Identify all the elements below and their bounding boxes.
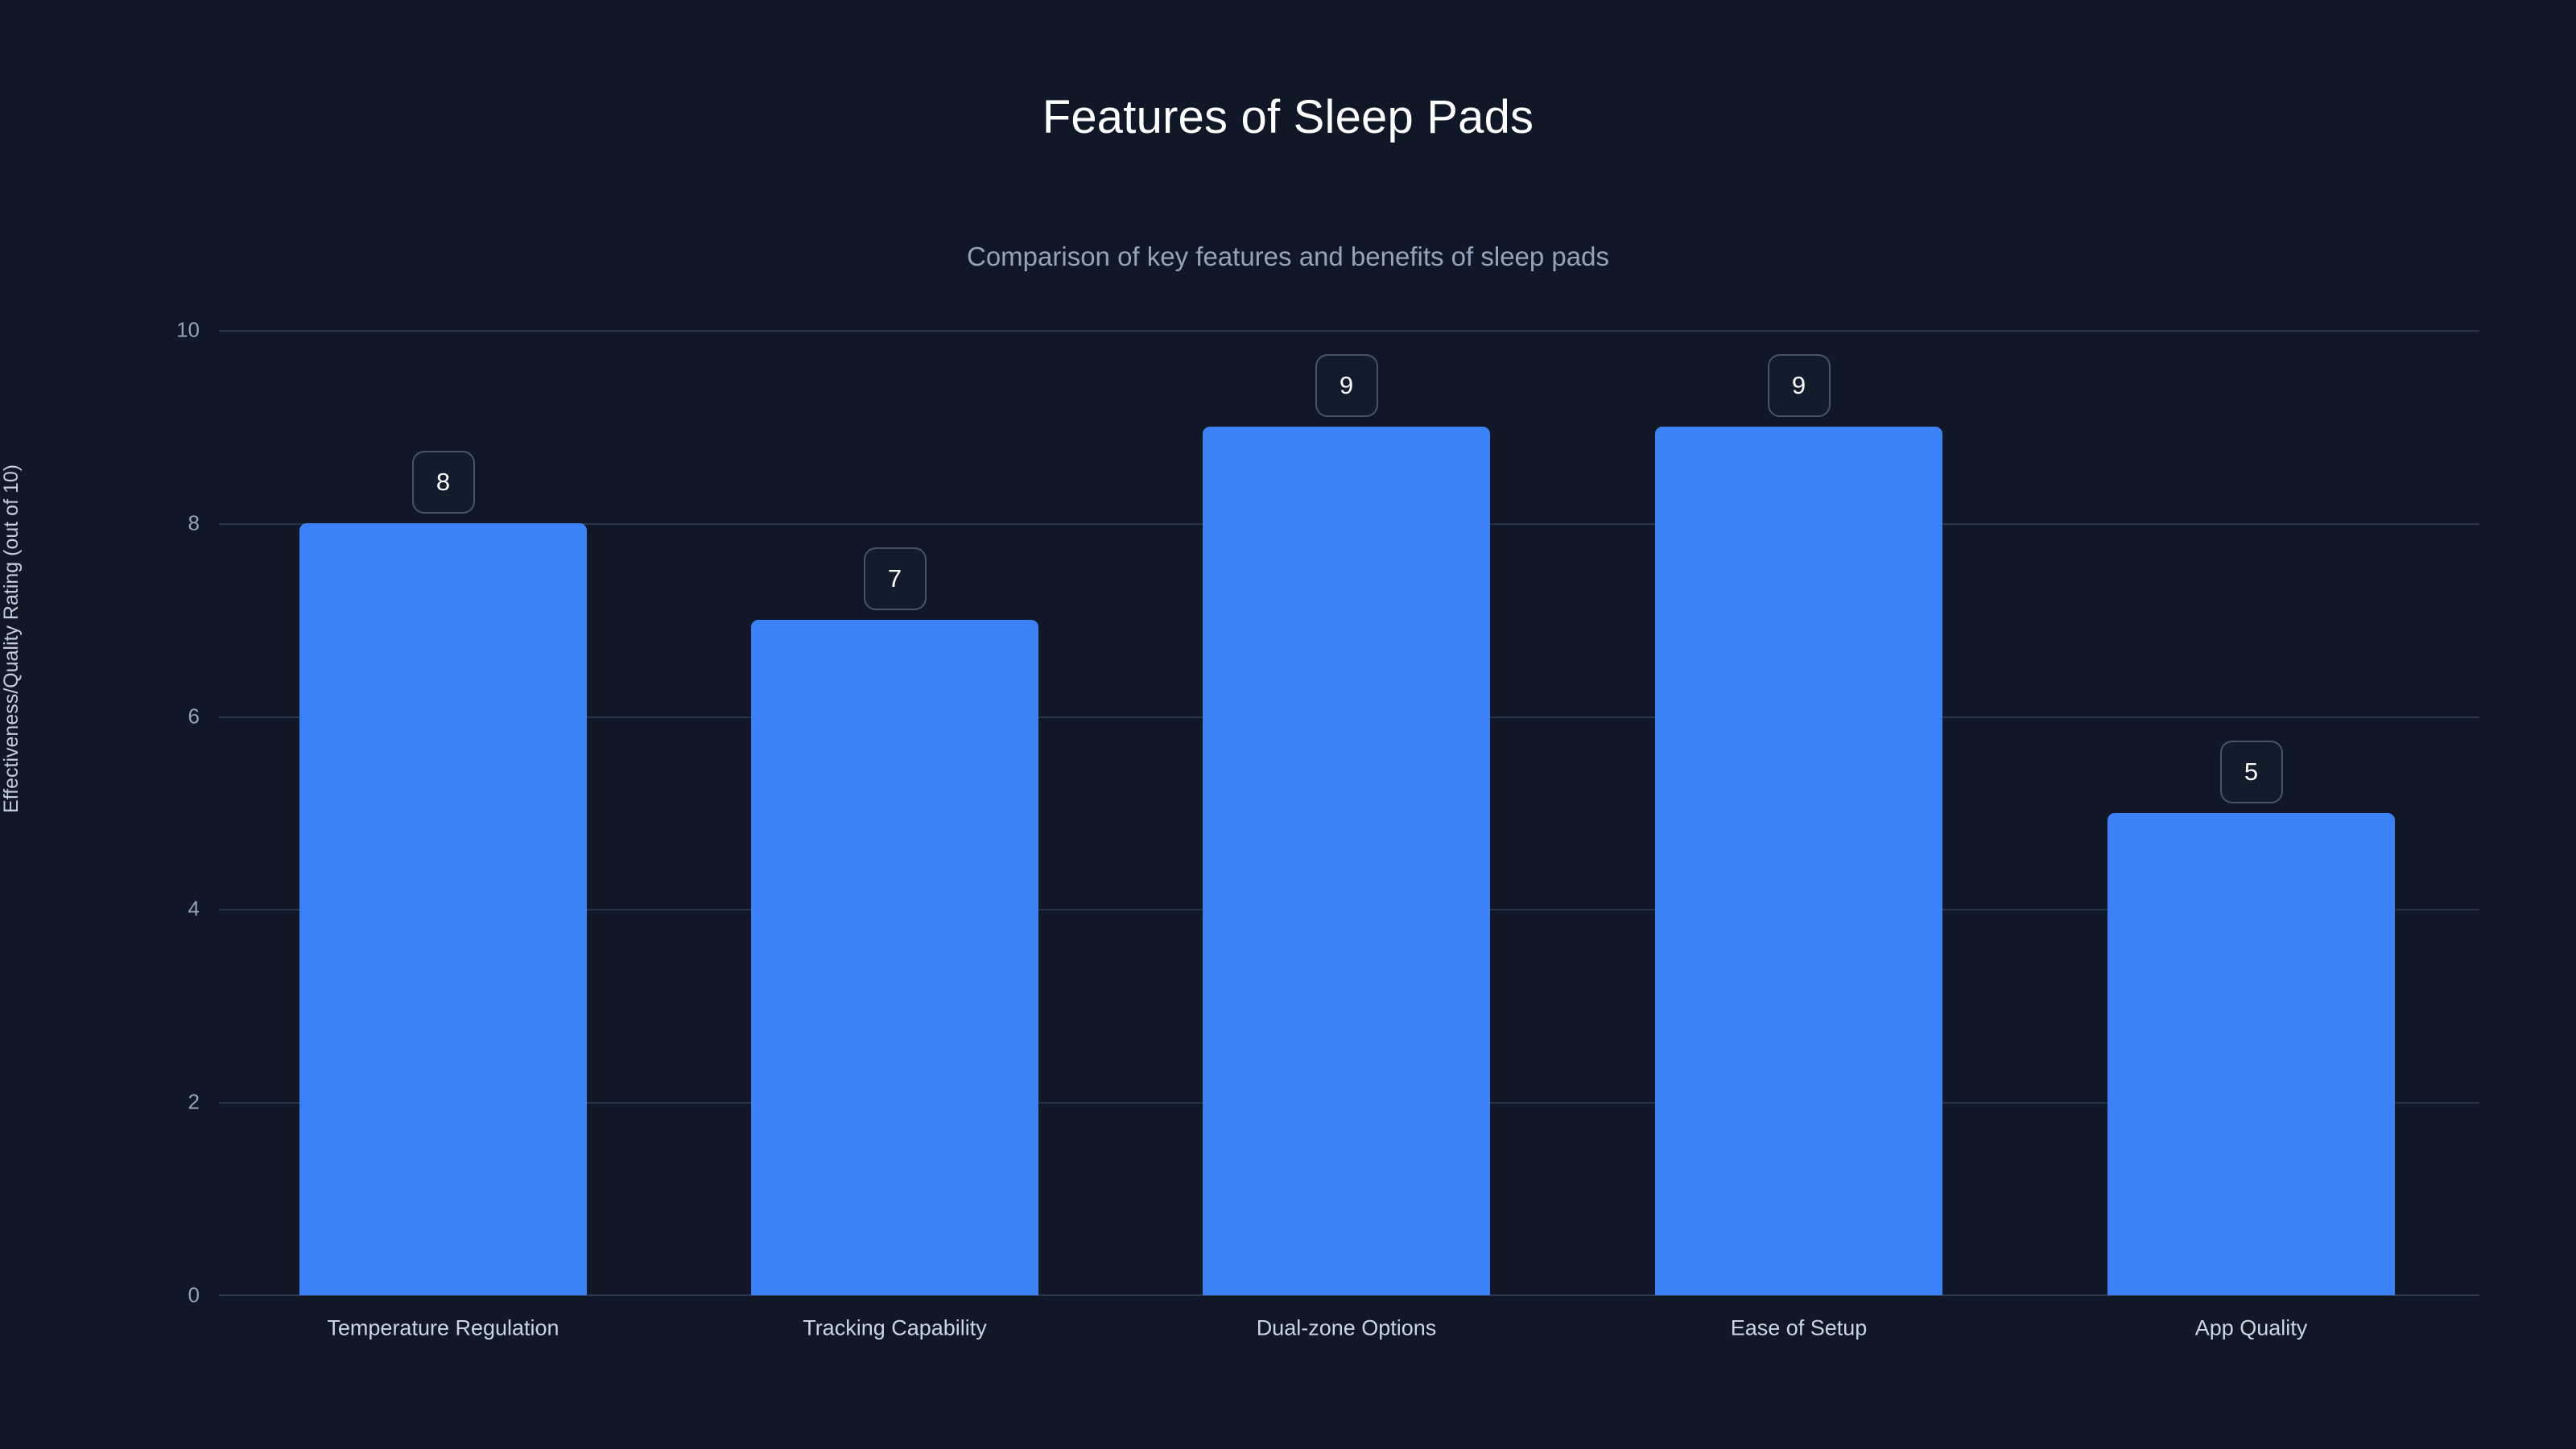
y-tick-label-8: 8 [145, 510, 200, 535]
chart-canvas: Features of Sleep Pads Comparison of key… [0, 0, 2576, 1449]
x-tick-label-app-quality: App Quality [2107, 1316, 2395, 1341]
bar-slot-temperature-regulation: 8 [299, 330, 587, 1295]
bar-slot-ease-of-setup: 9 [1655, 330, 1942, 1295]
y-tick-label-6: 6 [145, 704, 200, 729]
bar-ease-of-setup[interactable] [1655, 427, 1942, 1295]
bar-value-badge-ease-of-setup: 9 [1768, 354, 1831, 417]
x-tick-label-temperature-regulation: Temperature Regulation [299, 1316, 587, 1341]
chart-title: Features of Sleep Pads [0, 90, 2576, 144]
bar-value-badge-temperature-regulation: 8 [412, 451, 475, 514]
x-tick-label-dual-zone-options: Dual-zone Options [1203, 1316, 1490, 1341]
y-tick-label-0: 0 [145, 1283, 200, 1308]
y-axis-title: Effectiveness/Quality Rating (out of 10) [0, 298, 23, 813]
y-tick-label-10: 10 [145, 318, 200, 343]
y-tick-label-2: 2 [145, 1090, 200, 1115]
bar-value-badge-tracking-capability: 7 [864, 547, 927, 610]
bar-slot-tracking-capability: 7 [751, 330, 1038, 1295]
y-tick-label-4: 4 [145, 897, 200, 922]
bar-tracking-capability[interactable] [751, 620, 1038, 1295]
bar-dual-zone-options[interactable] [1203, 427, 1490, 1295]
x-tick-label-ease-of-setup: Ease of Setup [1655, 1316, 1942, 1341]
bar-app-quality[interactable] [2107, 813, 2395, 1296]
x-tick-label-tracking-capability: Tracking Capability [751, 1316, 1038, 1341]
bar-value-badge-dual-zone-options: 9 [1315, 354, 1378, 417]
bar-slot-dual-zone-options: 9 [1203, 330, 1490, 1295]
bar-temperature-regulation[interactable] [299, 523, 587, 1295]
bar-value-badge-app-quality: 5 [2220, 741, 2283, 803]
bar-slot-app-quality: 5 [2107, 330, 2395, 1295]
chart-subtitle: Comparison of key features and benefits … [0, 242, 2576, 272]
